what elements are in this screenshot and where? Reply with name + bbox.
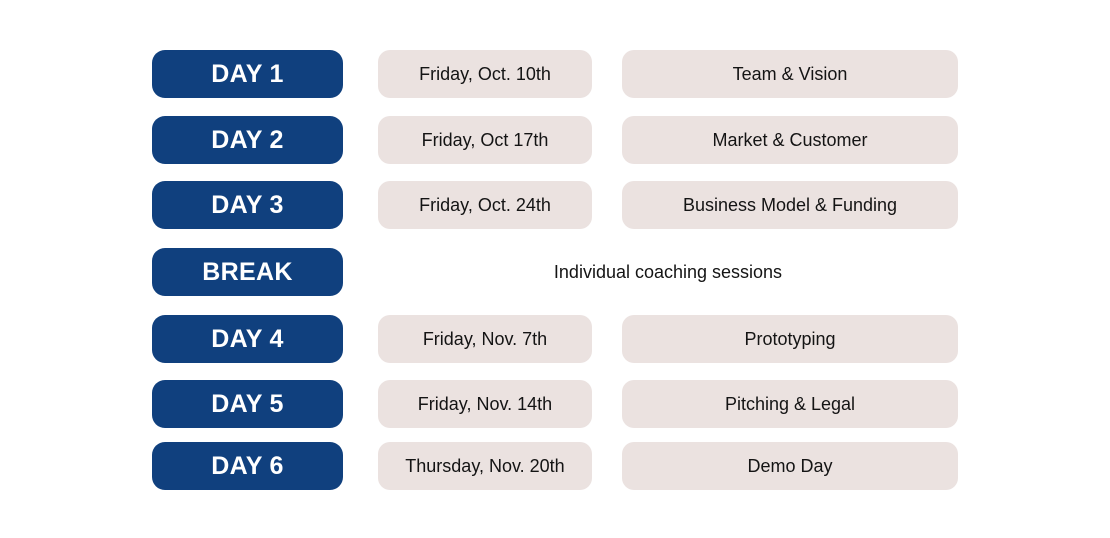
- day-badge-label: DAY 5: [211, 392, 283, 417]
- break-badge: BREAK: [152, 248, 343, 296]
- day-badge: DAY 4: [152, 315, 343, 363]
- day-badge: DAY 6: [152, 442, 343, 490]
- break-topic-label: Individual coaching sessions: [554, 263, 782, 281]
- date-cell-label: Friday, Oct. 10th: [419, 65, 551, 83]
- day-badge-label: DAY 4: [211, 327, 283, 352]
- topic-cell-label: Prototyping: [744, 330, 835, 348]
- schedule-row: DAY 4 Friday, Nov. 7th Prototyping: [0, 315, 1110, 363]
- day-badge-label: DAY 6: [211, 454, 283, 479]
- schedule-row: DAY 1 Friday, Oct. 10th Team & Vision: [0, 50, 1110, 98]
- date-cell: Friday, Nov. 7th: [378, 315, 592, 363]
- date-cell-label: Friday, Oct. 24th: [419, 196, 551, 214]
- day-badge: DAY 5: [152, 380, 343, 428]
- date-cell: Friday, Nov. 14th: [378, 380, 592, 428]
- schedule-row-break: BREAK Individual coaching sessions: [0, 248, 1110, 296]
- day-badge: DAY 2: [152, 116, 343, 164]
- topic-cell: Team & Vision: [622, 50, 958, 98]
- topic-cell-label: Demo Day: [747, 457, 832, 475]
- date-cell-label: Friday, Nov. 14th: [418, 395, 552, 413]
- topic-cell-label: Market & Customer: [712, 131, 867, 149]
- date-cell-label: Friday, Oct 17th: [422, 131, 549, 149]
- schedule-row: DAY 6 Thursday, Nov. 20th Demo Day: [0, 442, 1110, 490]
- topic-cell-label: Pitching & Legal: [725, 395, 855, 413]
- day-badge: DAY 1: [152, 50, 343, 98]
- break-badge-label: BREAK: [202, 260, 292, 285]
- date-cell: Thursday, Nov. 20th: [378, 442, 592, 490]
- day-badge: DAY 3: [152, 181, 343, 229]
- date-cell: Friday, Oct. 24th: [378, 181, 592, 229]
- topic-cell: Business Model & Funding: [622, 181, 958, 229]
- topic-cell: Pitching & Legal: [622, 380, 958, 428]
- topic-cell-label: Team & Vision: [733, 65, 848, 83]
- topic-cell: Demo Day: [622, 442, 958, 490]
- topic-cell: Market & Customer: [622, 116, 958, 164]
- day-badge-label: DAY 1: [211, 62, 283, 87]
- day-badge-label: DAY 3: [211, 193, 283, 218]
- topic-cell-label: Business Model & Funding: [683, 196, 897, 214]
- schedule-row: DAY 2 Friday, Oct 17th Market & Customer: [0, 116, 1110, 164]
- date-cell-label: Thursday, Nov. 20th: [405, 457, 564, 475]
- schedule-row: DAY 3 Friday, Oct. 24th Business Model &…: [0, 181, 1110, 229]
- break-topic-cell: Individual coaching sessions: [378, 247, 958, 297]
- date-cell: Friday, Oct 17th: [378, 116, 592, 164]
- day-badge-label: DAY 2: [211, 128, 283, 153]
- schedule-row: DAY 5 Friday, Nov. 14th Pitching & Legal: [0, 380, 1110, 428]
- schedule-table: DAY 1 Friday, Oct. 10th Team & Vision DA…: [0, 0, 1110, 538]
- date-cell-label: Friday, Nov. 7th: [423, 330, 547, 348]
- topic-cell: Prototyping: [622, 315, 958, 363]
- date-cell: Friday, Oct. 10th: [378, 50, 592, 98]
